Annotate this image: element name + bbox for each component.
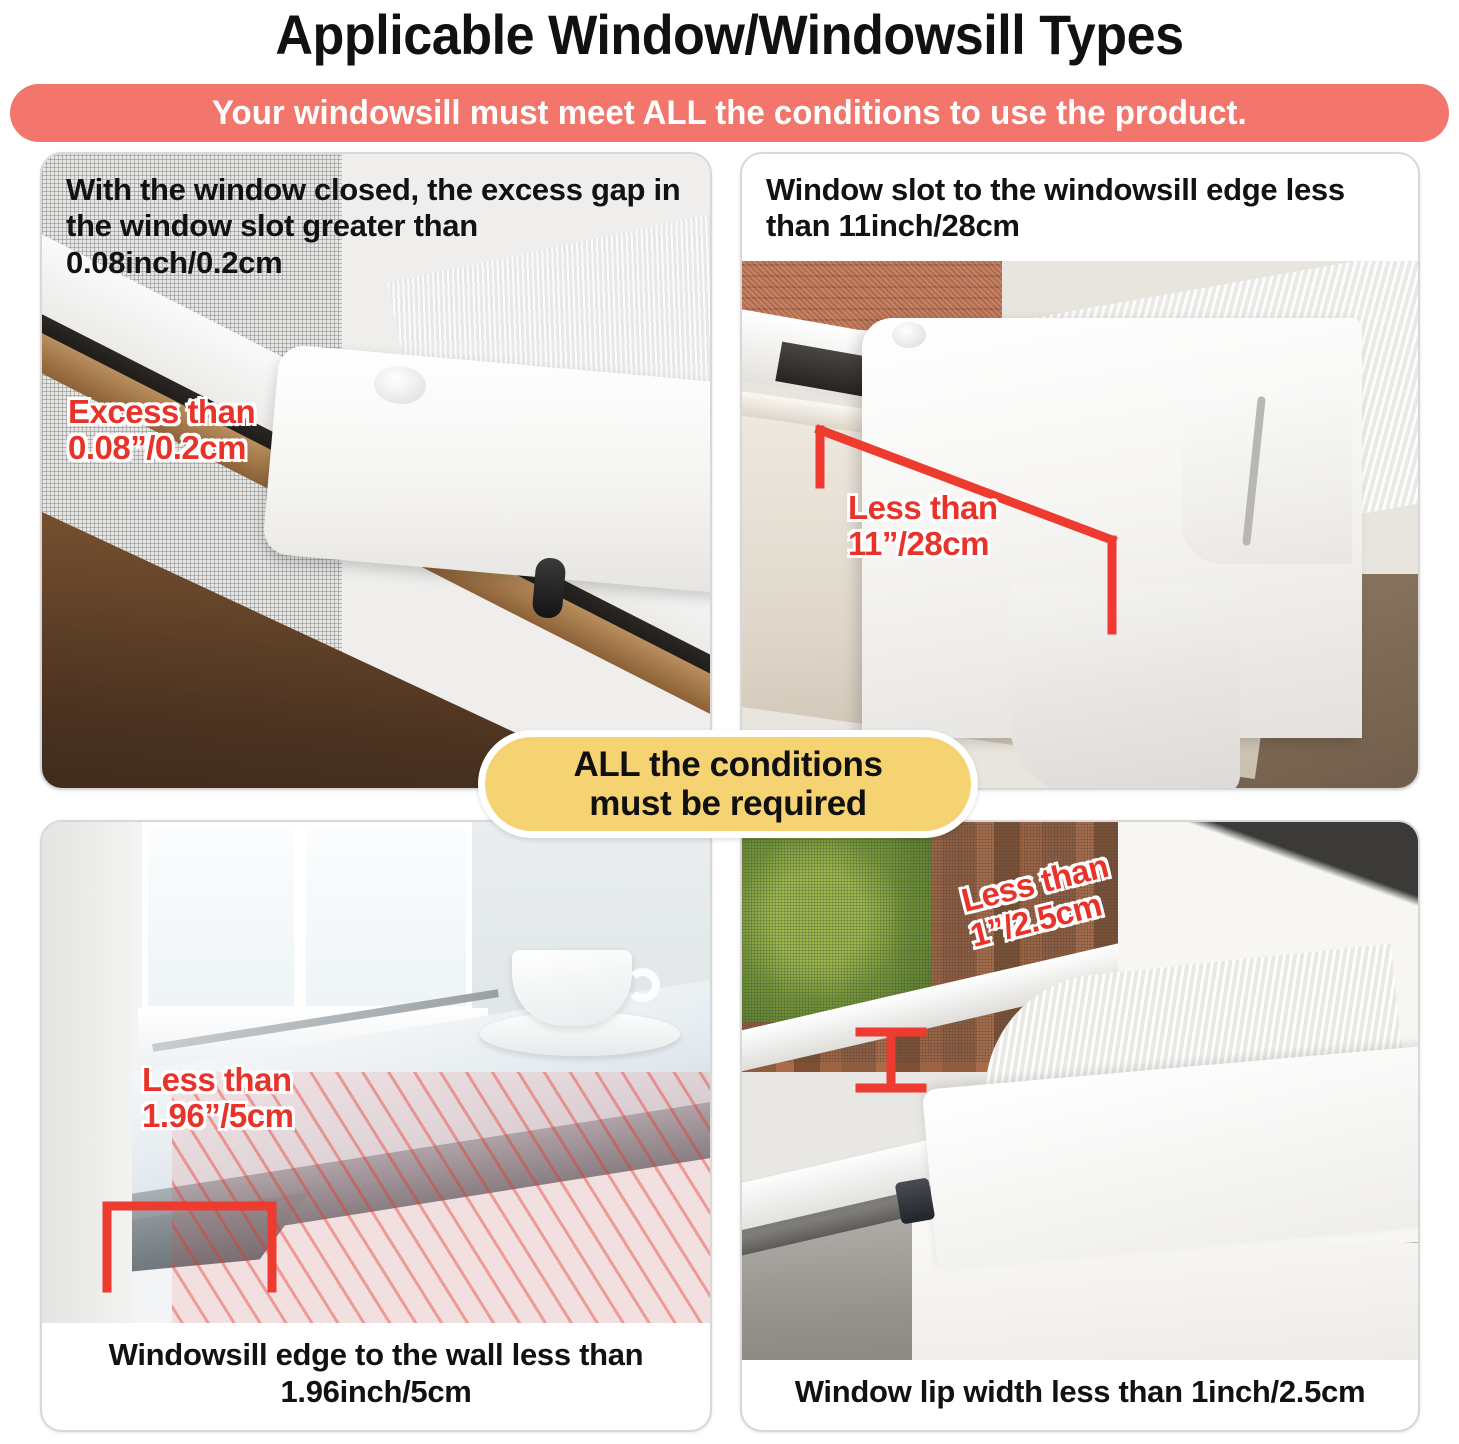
panel-caption-top-left: With the window closed, the excess gap i… xyxy=(42,154,710,297)
condition-panel-bottom-right: Less than 1”/2.5cm Window lip width less… xyxy=(740,820,1420,1432)
annotation-line-2: 0.08”/0.2cm xyxy=(68,430,255,466)
annotation-line-1: Less than xyxy=(848,490,998,526)
condition-panel-top-right: Less than 11”/28cm Window slot to the wi… xyxy=(740,152,1420,790)
measure-bracket-bottom-left xyxy=(100,1200,280,1300)
annotation-top-right: Less than 11”/28cm xyxy=(848,490,998,563)
all-conditions-badge: ALL the conditions must be required xyxy=(478,730,978,838)
annotation-line-1: Excess than xyxy=(68,394,255,430)
condition-panel-top-left: With the window closed, the excess gap i… xyxy=(40,152,712,790)
banner-text: Your windowsill must meet ALL the condit… xyxy=(212,94,1247,133)
panel-caption-top-right: Window slot to the windowsill edge less … xyxy=(742,154,1418,261)
page-title: Applicable Window/Windowsill Types xyxy=(51,2,1408,67)
annotation-line-1: Less than xyxy=(142,1062,293,1098)
measure-caliper-bottom-right xyxy=(850,1020,980,1100)
badge-line-1: ALL the conditions xyxy=(573,745,882,784)
annotation-line-2: 1.96”/5cm xyxy=(142,1098,293,1134)
panel-caption-bottom-right: Window lip width less than 1inch/2.5cm xyxy=(742,1360,1418,1430)
annotation-top-left: Excess than 0.08”/0.2cm xyxy=(68,394,255,467)
annotation-bottom-left: Less than 1.96”/5cm xyxy=(142,1062,293,1135)
panel-caption-bottom-left: Windowsill edge to the wall less than 1.… xyxy=(42,1323,710,1430)
requirement-banner: Your windowsill must meet ALL the condit… xyxy=(10,84,1449,142)
annotation-line-2: 11”/28cm xyxy=(848,526,998,562)
infographic-page: Applicable Window/Windowsill Types Your … xyxy=(0,0,1459,1444)
condition-panel-bottom-left: Less than 1.96”/5cm Windowsill edge to t… xyxy=(40,820,712,1432)
badge-line-2: must be required xyxy=(589,784,867,823)
